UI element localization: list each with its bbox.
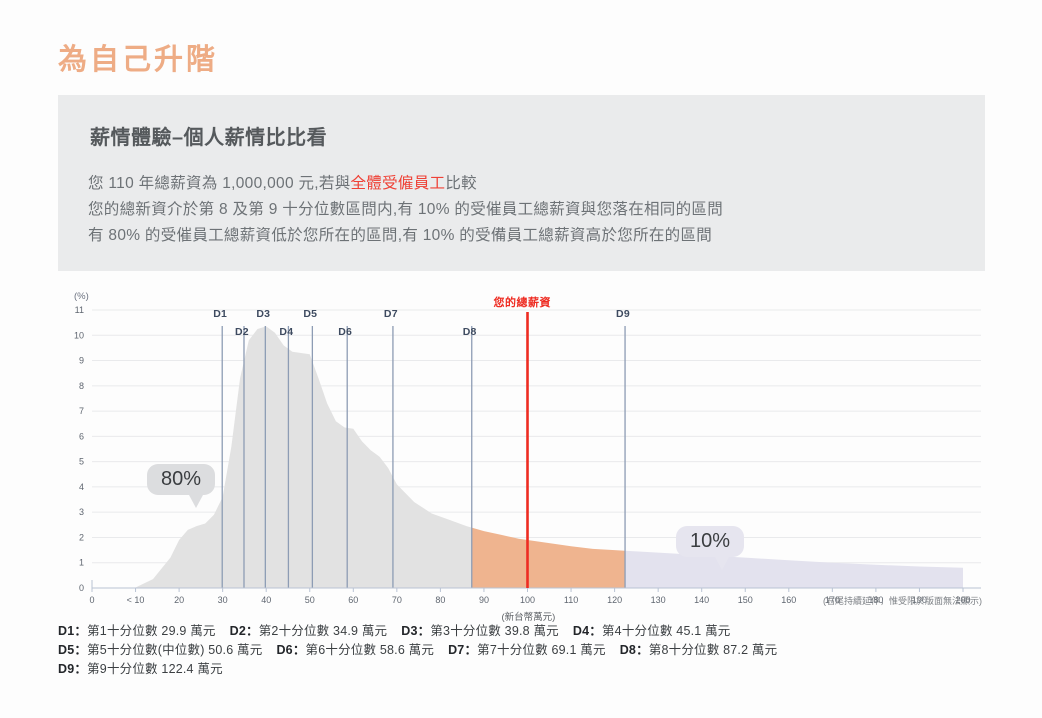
svg-text:90: 90 xyxy=(479,595,489,605)
legend-value: 第9十分位數 122.4 萬元 xyxy=(87,662,223,676)
svg-text:0: 0 xyxy=(89,595,94,605)
legend-key: D7： xyxy=(448,643,477,657)
svg-text:9: 9 xyxy=(79,356,84,366)
summary-line-2: 您的總新資介於第 8 及第 9 十分位數區問内,有 10% 的受催員工總薪資與您… xyxy=(88,197,723,219)
legend-item-d1: D1：第1十分位數 29.9 萬元 xyxy=(58,624,216,638)
legend-value: 第6十分位數 58.6 萬元 xyxy=(306,643,435,657)
chart-svg: 0< 1020304050607080901001101201301401501… xyxy=(58,288,985,613)
legend-value: 第7十分位數 69.1 萬元 xyxy=(477,643,606,657)
salary-distribution-chart: 0< 1020304050607080901001101201301401501… xyxy=(58,288,985,613)
salary-report-page: 為自己升階 薪情體驗–個人薪情比比看 您 110 年總薪資為 1,000,000… xyxy=(0,0,1042,718)
decile-label-d1: D1 xyxy=(213,308,227,320)
legend-value: 第8十分位數 87.2 萬元 xyxy=(649,643,778,657)
legend-row: D5：第5十分位數(中位數) 50.6 萬元D6：第6十分位數 58.6 萬元D… xyxy=(58,641,985,660)
legend-item-d5: D5：第5十分位數(中位數) 50.6 萬元 xyxy=(58,643,262,657)
panel-heading: 薪情體驗–個人薪情比比看 xyxy=(90,121,327,150)
svg-text:3: 3 xyxy=(79,507,84,517)
decile-legend: D1：第1十分位數 29.9 萬元D2：第2十分位數 34.9 萬元D3：第3十… xyxy=(58,622,985,679)
legend-key: D9： xyxy=(58,662,87,676)
decile-label-d5: D5 xyxy=(303,308,317,320)
legend-row: D1：第1十分位數 29.9 萬元D2：第2十分位數 34.9 萬元D3：第3十… xyxy=(58,622,985,641)
svg-text:130: 130 xyxy=(651,595,666,605)
legend-key: D6： xyxy=(276,643,305,657)
svg-text:11: 11 xyxy=(75,305,84,315)
svg-text:1: 1 xyxy=(79,558,84,568)
chart-tail-note: (右尾持續延伸，惟受限於版面無法顯示) xyxy=(823,594,982,607)
legend-key: D8： xyxy=(620,643,649,657)
svg-text:50: 50 xyxy=(305,595,315,605)
svg-text:110: 110 xyxy=(564,595,578,605)
summary-line-1-before: 您 110 年總薪資為 1,000,000 元,若與 xyxy=(88,175,351,192)
legend-key: D5： xyxy=(58,643,87,657)
legend-value: 第1十分位數 29.9 萬元 xyxy=(87,624,216,638)
y-axis-tick-labels: 01234567891011 xyxy=(74,305,84,593)
legend-value: 第3十分位數 39.8 萬元 xyxy=(430,624,559,638)
svg-text:120: 120 xyxy=(607,595,622,605)
callout-above-percentage: 10% xyxy=(676,526,744,557)
svg-text:30: 30 xyxy=(218,595,228,605)
legend-item-d3: D3：第3十分位數 39.8 萬元 xyxy=(401,624,559,638)
svg-text:5: 5 xyxy=(79,457,84,467)
decile-label-d4: D4 xyxy=(279,326,293,338)
summary-line-3: 有 80% 的受催員工總薪資低於您所在的區問,有 10% 的受備員工總薪資高於您… xyxy=(88,223,712,245)
decile-label-d7: D7 xyxy=(384,308,398,320)
svg-text:160: 160 xyxy=(781,595,796,605)
info-panel: 薪情體驗–個人薪情比比看 您 110 年總薪資為 1,000,000 元,若與全… xyxy=(58,95,985,271)
svg-text:70: 70 xyxy=(392,595,402,605)
legend-row: D9：第9十分位數 122.4 萬元 xyxy=(58,660,985,679)
legend-key: D3： xyxy=(401,624,430,638)
svg-text:7: 7 xyxy=(79,406,84,416)
summary-line-1-highlight: 全體受僱員工 xyxy=(351,175,446,192)
svg-text:80: 80 xyxy=(435,595,445,605)
svg-text:4: 4 xyxy=(79,482,84,492)
callout-below-percentage: 80% xyxy=(147,464,215,495)
legend-item-d2: D2：第2十分位數 34.9 萬元 xyxy=(230,624,388,638)
svg-text:0: 0 xyxy=(79,583,84,593)
legend-item-d9: D9：第9十分位數 122.4 萬元 xyxy=(58,662,223,676)
svg-text:140: 140 xyxy=(694,595,709,605)
legend-key: D4： xyxy=(573,624,602,638)
legend-value: 第2十分位數 34.9 萬元 xyxy=(259,624,388,638)
decile-label-d8: D8 xyxy=(463,326,477,338)
salary-marker-label: 您的總薪資 xyxy=(494,294,552,310)
svg-text:40: 40 xyxy=(261,595,271,605)
legend-item-d6: D6：第6十分位數 58.6 萬元 xyxy=(276,643,434,657)
svg-text:< 10: < 10 xyxy=(127,595,145,605)
x-axis-title: (新台幣萬元) xyxy=(502,609,556,623)
decile-label-d2: D2 xyxy=(235,326,249,338)
decile-label-d3: D3 xyxy=(256,308,270,320)
decile-label-d9: D9 xyxy=(616,308,630,320)
svg-text:8: 8 xyxy=(79,381,84,391)
legend-key: D2： xyxy=(230,624,259,638)
svg-text:100: 100 xyxy=(520,595,535,605)
summary-line-1: 您 110 年總薪資為 1,000,000 元,若與全體受僱員工比較 xyxy=(88,171,477,193)
page-title: 為自己升階 xyxy=(58,36,218,78)
summary-line-1-after: 比較 xyxy=(445,175,477,192)
svg-text:20: 20 xyxy=(174,595,184,605)
svg-text:150: 150 xyxy=(738,595,753,605)
legend-value: 第4十分位數 45.1 萬元 xyxy=(602,624,731,638)
svg-text:2: 2 xyxy=(79,532,84,542)
legend-item-d7: D7：第7十分位數 69.1 萬元 xyxy=(448,643,606,657)
legend-item-d4: D4：第4十分位數 45.1 萬元 xyxy=(573,624,731,638)
decile-label-d6: D6 xyxy=(338,326,352,338)
legend-key: D1： xyxy=(58,624,87,638)
svg-text:10: 10 xyxy=(74,330,84,340)
svg-text:60: 60 xyxy=(348,595,358,605)
legend-item-d8: D8：第8十分位數 87.2 萬元 xyxy=(620,643,778,657)
legend-value: 第5十分位數(中位數) 50.6 萬元 xyxy=(87,643,262,657)
svg-text:6: 6 xyxy=(79,431,84,441)
